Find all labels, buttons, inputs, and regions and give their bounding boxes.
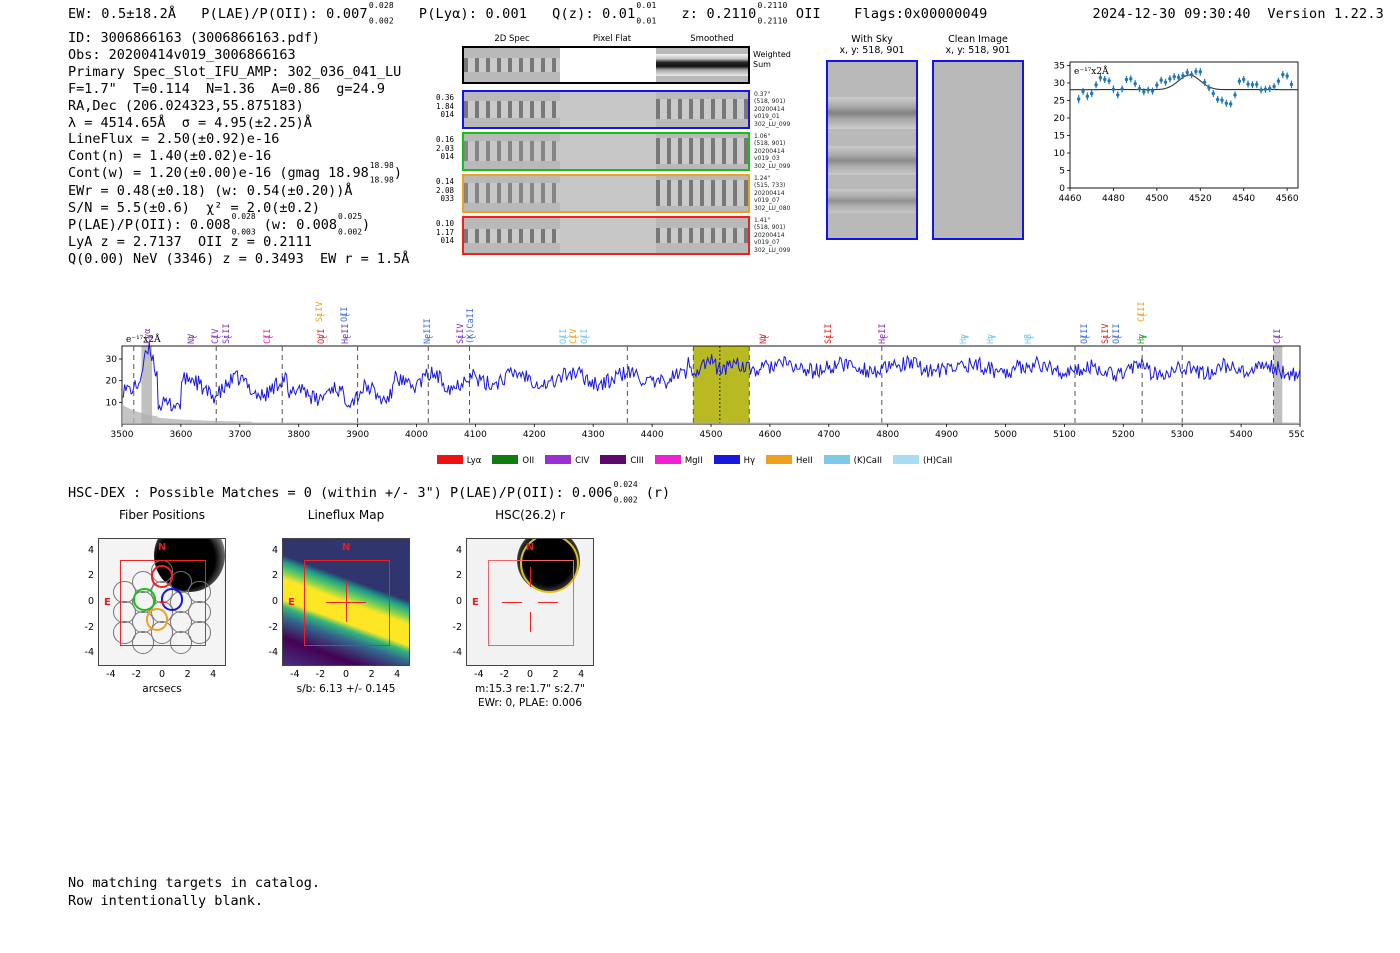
emission-line-brace: { — [144, 335, 153, 340]
legend-label: OII — [522, 456, 534, 466]
svg-text:20: 20 — [106, 377, 118, 387]
svg-text:3700: 3700 — [228, 430, 251, 440]
cutout-title-with-sky: With Sky — [826, 34, 918, 45]
crosshair-vertical — [346, 582, 347, 622]
object-info-block: ID: 3006866163 (3006866163.pdf) Obs: 202… — [68, 30, 409, 268]
axis-tick-x: 0 — [334, 669, 358, 680]
svg-text:4700: 4700 — [817, 430, 840, 440]
svg-text:5: 5 — [1059, 167, 1065, 177]
header-qz-hi: 0.01 — [636, 1, 656, 10]
svg-text:4520: 4520 — [1189, 194, 1212, 204]
fiber-meta-line: 302_LU_080 — [754, 205, 814, 212]
info-ewr: EWr = 0.48(±0.18) (w: 0.54(±0.20))Å — [68, 183, 409, 200]
emission-line-brace: { — [879, 335, 888, 340]
cutout-sub-with-sky: x, y: 518, 901 — [826, 45, 918, 56]
fiber-meta-line: 20200414 — [754, 106, 814, 113]
legend-swatch — [766, 455, 792, 464]
footer-note: No matching targets in catalog. Row inte… — [68, 874, 320, 910]
legend-item: CIV — [545, 455, 589, 466]
legend-item: HeII — [766, 455, 813, 466]
emission-line-brace: { — [318, 335, 327, 340]
svg-text:4600: 4600 — [758, 430, 781, 440]
axis-tick-x: -4 — [99, 669, 123, 680]
hsc-caption-1: m:15.3 re:1.7" s:2.7" — [446, 683, 614, 695]
fiber-meta-line: v019_07 — [754, 239, 814, 246]
fiber-meta-line: 1.24" — [754, 175, 814, 182]
svg-text:10: 10 — [1054, 149, 1066, 159]
spectrum-legend: LyαOIICIVCIIIMgIIHγHeII(K)CaII(H)CaII — [96, 448, 1304, 467]
fiber-meta-line: (518, 901) — [754, 224, 814, 231]
axis-tick-x: 0 — [518, 669, 542, 680]
header-qz-lo: 0.01 — [636, 17, 656, 26]
svg-text:3800: 3800 — [287, 430, 310, 440]
axis-tick-y: -2 — [254, 622, 278, 633]
info-cont-n: Cont(n) = 1.40(±0.02)e-16 — [68, 148, 409, 165]
svg-text:4540: 4540 — [1232, 194, 1255, 204]
axis-tick-y: 2 — [70, 570, 94, 581]
legend-swatch — [893, 455, 919, 464]
svg-text:4100: 4100 — [464, 430, 487, 440]
legend-item: MgII — [655, 455, 703, 466]
emission-line-brace: { — [581, 335, 590, 340]
legend-item: (K)CaII — [824, 455, 882, 466]
twod-col-title-pixelflat: Pixel Flat — [562, 34, 662, 44]
weighted-sum-label: Weighted Sum — [753, 50, 791, 70]
emission-line-brace: { — [960, 335, 969, 340]
fiber-meta-line: 302_LU_099 — [754, 163, 814, 170]
axis-tick-y: -2 — [70, 622, 94, 633]
legend-label: Lyα — [467, 456, 482, 466]
axis-tick-y: -4 — [254, 647, 278, 658]
svg-text:4400: 4400 — [641, 430, 664, 440]
emission-line-brace: { — [825, 335, 834, 340]
legend-label: Hγ — [744, 456, 755, 466]
target-marker: + — [158, 596, 167, 609]
fiber-meta-line: v019_03 — [754, 155, 814, 162]
header-datetime: 2024-12-30 09:30:40 — [1093, 6, 1251, 22]
svg-text:25: 25 — [1054, 97, 1065, 107]
compass-north: N — [342, 542, 350, 553]
emission-line-brace: { — [1081, 335, 1090, 340]
info-plae: P(LAE)/P(OII): 0.0080.0280.003 (w: 0.008… — [68, 217, 409, 235]
info-primary: Primary Spec_Slot_IFU_AMP: 302_036_041_L… — [68, 64, 409, 81]
header-qz-label: Q(z): 0.01 — [552, 6, 635, 22]
emission-line-brace: { — [760, 335, 769, 340]
compass-east: E — [472, 597, 479, 608]
axis-tick-x: 4 — [569, 669, 593, 680]
line-fit-plot: 05101520253035446044804500452045404560e⁻… — [1040, 56, 1302, 208]
info-lambda: λ = 4514.65Å σ = 4.95(±2.25)Å — [68, 115, 409, 132]
legend-label: HeII — [796, 456, 813, 466]
hsc-image-panel-axes: NE — [466, 538, 594, 666]
compass-east: E — [104, 597, 111, 608]
svg-text:5400: 5400 — [1230, 430, 1253, 440]
header-z-hi: 0.2110 — [757, 1, 787, 10]
footer-line-1: No matching targets in catalog. — [68, 875, 320, 891]
fiber-positions-panel-axes: +NE — [98, 538, 226, 666]
fiber-meta-line: (518, 901) — [754, 140, 814, 147]
emission-line-brace: { — [264, 335, 273, 340]
lineflux-map-panel-title: Lineflux Map — [282, 508, 410, 522]
axis-tick-y: 0 — [438, 596, 462, 607]
axis-tick-y: 2 — [254, 570, 278, 581]
svg-text:4900: 4900 — [935, 430, 958, 440]
legend-swatch — [492, 455, 518, 464]
axis-tick-x: -4 — [467, 669, 491, 680]
fiber-left-values: 0.361.84014 — [420, 94, 454, 120]
fiber-left-value: 014 — [420, 111, 454, 120]
header-summary: EW: 0.5±18.2Å P(LAE)/P(OII): 0.0070.0280… — [68, 6, 987, 24]
axis-tick-y: -4 — [70, 647, 94, 658]
lineflux-caption: s/b: 6.13 +/- 0.145 — [268, 683, 424, 695]
legend-item: Hγ — [714, 455, 755, 466]
svg-text:3500: 3500 — [111, 430, 134, 440]
header-plae-label: P(LAE)/P(OII): 0.007 — [201, 6, 368, 22]
cutout-clean-image: Clean Image x, y: 518, 901 — [932, 34, 1024, 56]
fiber-meta-line: 0.37" — [754, 91, 814, 98]
info-cont-w: Cont(w) = 1.20(±0.00)e-16 (gmag 18.9818.… — [68, 165, 409, 183]
crosshair-left — [502, 602, 522, 603]
legend-swatch — [824, 455, 850, 464]
axis-tick-x: 4 — [385, 669, 409, 680]
header-version: Version 1.22.3 — [1267, 6, 1384, 22]
cutout-title-clean: Clean Image — [932, 34, 1024, 45]
fiber-left-value: 014 — [420, 153, 454, 162]
fiber-meta-line: (515, 733) — [754, 182, 814, 189]
legend-label: CIV — [575, 456, 589, 466]
svg-text:30: 30 — [1054, 79, 1066, 89]
fiber-meta-line: 302_LU_099 — [754, 247, 814, 254]
svg-text:3600: 3600 — [169, 430, 192, 440]
crosshair-bottom — [530, 612, 531, 632]
fiber-meta-line: 1.06" — [754, 133, 814, 140]
svg-text:4800: 4800 — [876, 430, 899, 440]
header-z-lo: 0.2110 — [757, 17, 787, 26]
axis-tick-y: 4 — [70, 545, 94, 556]
axis-tick-y: 0 — [70, 596, 94, 607]
legend-item: CIII — [600, 455, 643, 466]
svg-text:4000: 4000 — [405, 430, 428, 440]
fiber-left-value: 033 — [420, 195, 454, 204]
fiber-meta-line: 302_LU_099 — [754, 121, 814, 128]
emission-line-brace: { — [987, 335, 996, 340]
emission-line-brace: { — [223, 335, 232, 340]
fiber-left-values: 0.142.08033 — [420, 178, 454, 204]
svg-text:30: 30 — [106, 355, 118, 365]
info-radec: RA,Dec (206.024323,55.875183) — [68, 98, 409, 115]
emission-line-brace: { — [457, 335, 466, 340]
header-plae-hi: 0.028 — [369, 1, 394, 10]
fiber-row — [462, 174, 750, 213]
legend-swatch — [437, 455, 463, 464]
fiber-left-values: 0.101.17014 — [420, 220, 454, 246]
fiber-left-value: 014 — [420, 237, 454, 246]
emission-line-brace: { — [316, 313, 325, 318]
legend-item: (H)CaII — [893, 455, 952, 466]
axis-tick-x: 4 — [201, 669, 225, 680]
legend-swatch — [600, 455, 626, 464]
legend-label: (H)CaII — [923, 456, 952, 466]
legend-label: MgII — [685, 456, 703, 466]
svg-text:10: 10 — [106, 398, 118, 408]
bottom-image-panels: Fiber Positions+NE-4-4-2-2002244arcsecsL… — [56, 508, 656, 738]
legend-item: Lyα — [437, 455, 482, 466]
svg-text:4480: 4480 — [1102, 194, 1125, 204]
hsc-caption-2: EWr: 0, PLAE: 0.006 — [446, 697, 614, 709]
legend-swatch — [714, 455, 740, 464]
emission-line-brace: { — [570, 335, 579, 340]
fiber-row — [462, 90, 750, 129]
fiber-positions-xlabel: arcsecs — [98, 683, 226, 695]
legend-swatch — [545, 455, 571, 464]
info-z: LyA z = 2.7137 OII z = 0.2111 — [68, 234, 409, 251]
fiber-meta-line: v019_07 — [754, 197, 814, 204]
hsc-image-panel-title: HSC(26.2) r — [466, 508, 594, 522]
axis-tick-y: 4 — [254, 545, 278, 556]
crosshair-right — [538, 602, 558, 603]
weighted-sum-strip — [462, 46, 750, 84]
fiber-meta-line: 20200414 — [754, 148, 814, 155]
axis-tick-x: -2 — [492, 669, 516, 680]
header-z-type: OII — [796, 6, 821, 22]
hscdex-summary: HSC-DEX : Possible Matches = 0 (within +… — [68, 485, 670, 503]
emission-line-brace: { — [424, 335, 433, 340]
info-q: Q(0.00) NeV (3346) z = 0.3493 EW r = 1.5… — [68, 251, 409, 268]
twod-col-title-2dspec: 2D Spec — [462, 34, 562, 44]
svg-text:5000: 5000 — [994, 430, 1017, 440]
axis-tick-y: 2 — [438, 570, 462, 581]
fiber-meta-line: 1.41" — [754, 217, 814, 224]
svg-text:0: 0 — [1059, 184, 1065, 194]
emission-line-brace: { — [188, 335, 197, 340]
axis-tick-x: 0 — [150, 669, 174, 680]
svg-text:20: 20 — [1054, 114, 1066, 124]
axis-tick-y: 0 — [254, 596, 278, 607]
fiber-row — [462, 132, 750, 171]
lineflux-map-panel-axes: NE — [282, 538, 410, 666]
crosshair-top — [530, 567, 531, 587]
header-z-label: z: 0.2110 — [681, 6, 756, 22]
header-flags: Flags:0x00000049 — [854, 6, 987, 22]
fiber-positions-panel-title: Fiber Positions — [98, 508, 226, 522]
axis-tick-x: -4 — [283, 669, 307, 680]
info-seeing: F=1.7" T=0.114 N=1.36 A=0.86 g=24.9 — [68, 81, 409, 98]
emission-line-brace: { — [1138, 335, 1147, 340]
svg-text:3900: 3900 — [346, 430, 369, 440]
emission-line-brace: { — [212, 335, 221, 340]
axis-tick-x: 2 — [176, 669, 200, 680]
fiber-meta-line: (518, 901) — [754, 98, 814, 105]
legend-item: OII — [492, 455, 534, 466]
fiber-meta-line: 20200414 — [754, 190, 814, 197]
svg-text:4200: 4200 — [523, 430, 546, 440]
axis-tick-y: -4 — [438, 647, 462, 658]
fiber-row — [462, 216, 750, 255]
compass-north: N — [158, 542, 166, 553]
svg-text:5100: 5100 — [1053, 430, 1076, 440]
footer-line-2: Row intentionally blank. — [68, 893, 263, 909]
full-spectrum-plot: 1020303500360037003800390040004100420043… — [96, 278, 1304, 440]
svg-text:5300: 5300 — [1171, 430, 1194, 440]
fiber-right-meta: 0.37"(518, 901)20200414v019_01302_LU_099 — [754, 91, 814, 128]
fiber-right-meta: 1.24"(515, 733)20200414v019_07302_LU_080 — [754, 175, 814, 212]
emission-line-brace: { — [467, 335, 476, 340]
fiber-meta-line: v019_01 — [754, 113, 814, 120]
header-plya: P(Lyα): 0.001 — [419, 6, 527, 22]
svg-text:15: 15 — [1054, 132, 1065, 142]
info-obs: Obs: 20200414v019_3006866163 — [68, 47, 409, 64]
emission-line-brace: { — [1113, 335, 1122, 340]
svg-text:4460: 4460 — [1059, 194, 1082, 204]
legend-swatch — [655, 455, 681, 464]
legend-label: (K)CaII — [854, 456, 882, 466]
header-plae-lo: 0.002 — [369, 17, 394, 26]
svg-text:5500: 5500 — [1289, 430, 1304, 440]
emission-line-brace: { — [1274, 335, 1283, 340]
fiber-left-values: 0.162.03014 — [420, 136, 454, 162]
emission-line-brace: { — [341, 313, 350, 318]
info-id: ID: 3006866163 (3006866163.pdf) — [68, 30, 409, 47]
emission-line-brace: { — [1025, 335, 1034, 340]
svg-text:4300: 4300 — [582, 430, 605, 440]
emission-line-brace: { — [560, 335, 569, 340]
cutout-sub-clean: x, y: 518, 901 — [932, 45, 1024, 56]
legend-label: CIII — [630, 456, 643, 466]
compass-east: E — [288, 597, 295, 608]
axis-tick-y: -2 — [438, 622, 462, 633]
fiber-meta-line: 20200414 — [754, 232, 814, 239]
axis-tick-x: 2 — [544, 669, 568, 680]
header-timestamp-version: 2024-12-30 09:30:40 Version 1.22.3 — [1093, 6, 1384, 22]
axis-tick-x: -2 — [124, 669, 148, 680]
axis-tick-y: 4 — [438, 545, 462, 556]
compass-north: N — [526, 542, 534, 553]
svg-text:5200: 5200 — [1112, 430, 1135, 440]
axis-tick-x: -2 — [308, 669, 332, 680]
fiber-right-meta: 1.06"(518, 901)20200414v019_03302_LU_099 — [754, 133, 814, 170]
cutout-with-sky: With Sky x, y: 518, 901 — [826, 34, 918, 56]
fiber-right-meta: 1.41"(518, 901)20200414v019_07302_LU_099 — [754, 217, 814, 254]
svg-text:35: 35 — [1054, 62, 1065, 72]
emission-line-brace: { — [1102, 335, 1111, 340]
info-lineflux: LineFlux = 2.50(±0.92)e-16 — [68, 131, 409, 148]
svg-text:4560: 4560 — [1276, 194, 1299, 204]
twod-col-title-smoothed: Smoothed — [662, 34, 762, 44]
svg-text:4500: 4500 — [700, 430, 723, 440]
svg-text:e⁻¹⁷x2Å: e⁻¹⁷x2Å — [1074, 65, 1109, 77]
header-ew: EW: 0.5±18.2Å — [68, 6, 176, 22]
axis-tick-x: 2 — [360, 669, 384, 680]
svg-text:4500: 4500 — [1145, 194, 1168, 204]
emission-line-brace: { — [342, 335, 351, 340]
